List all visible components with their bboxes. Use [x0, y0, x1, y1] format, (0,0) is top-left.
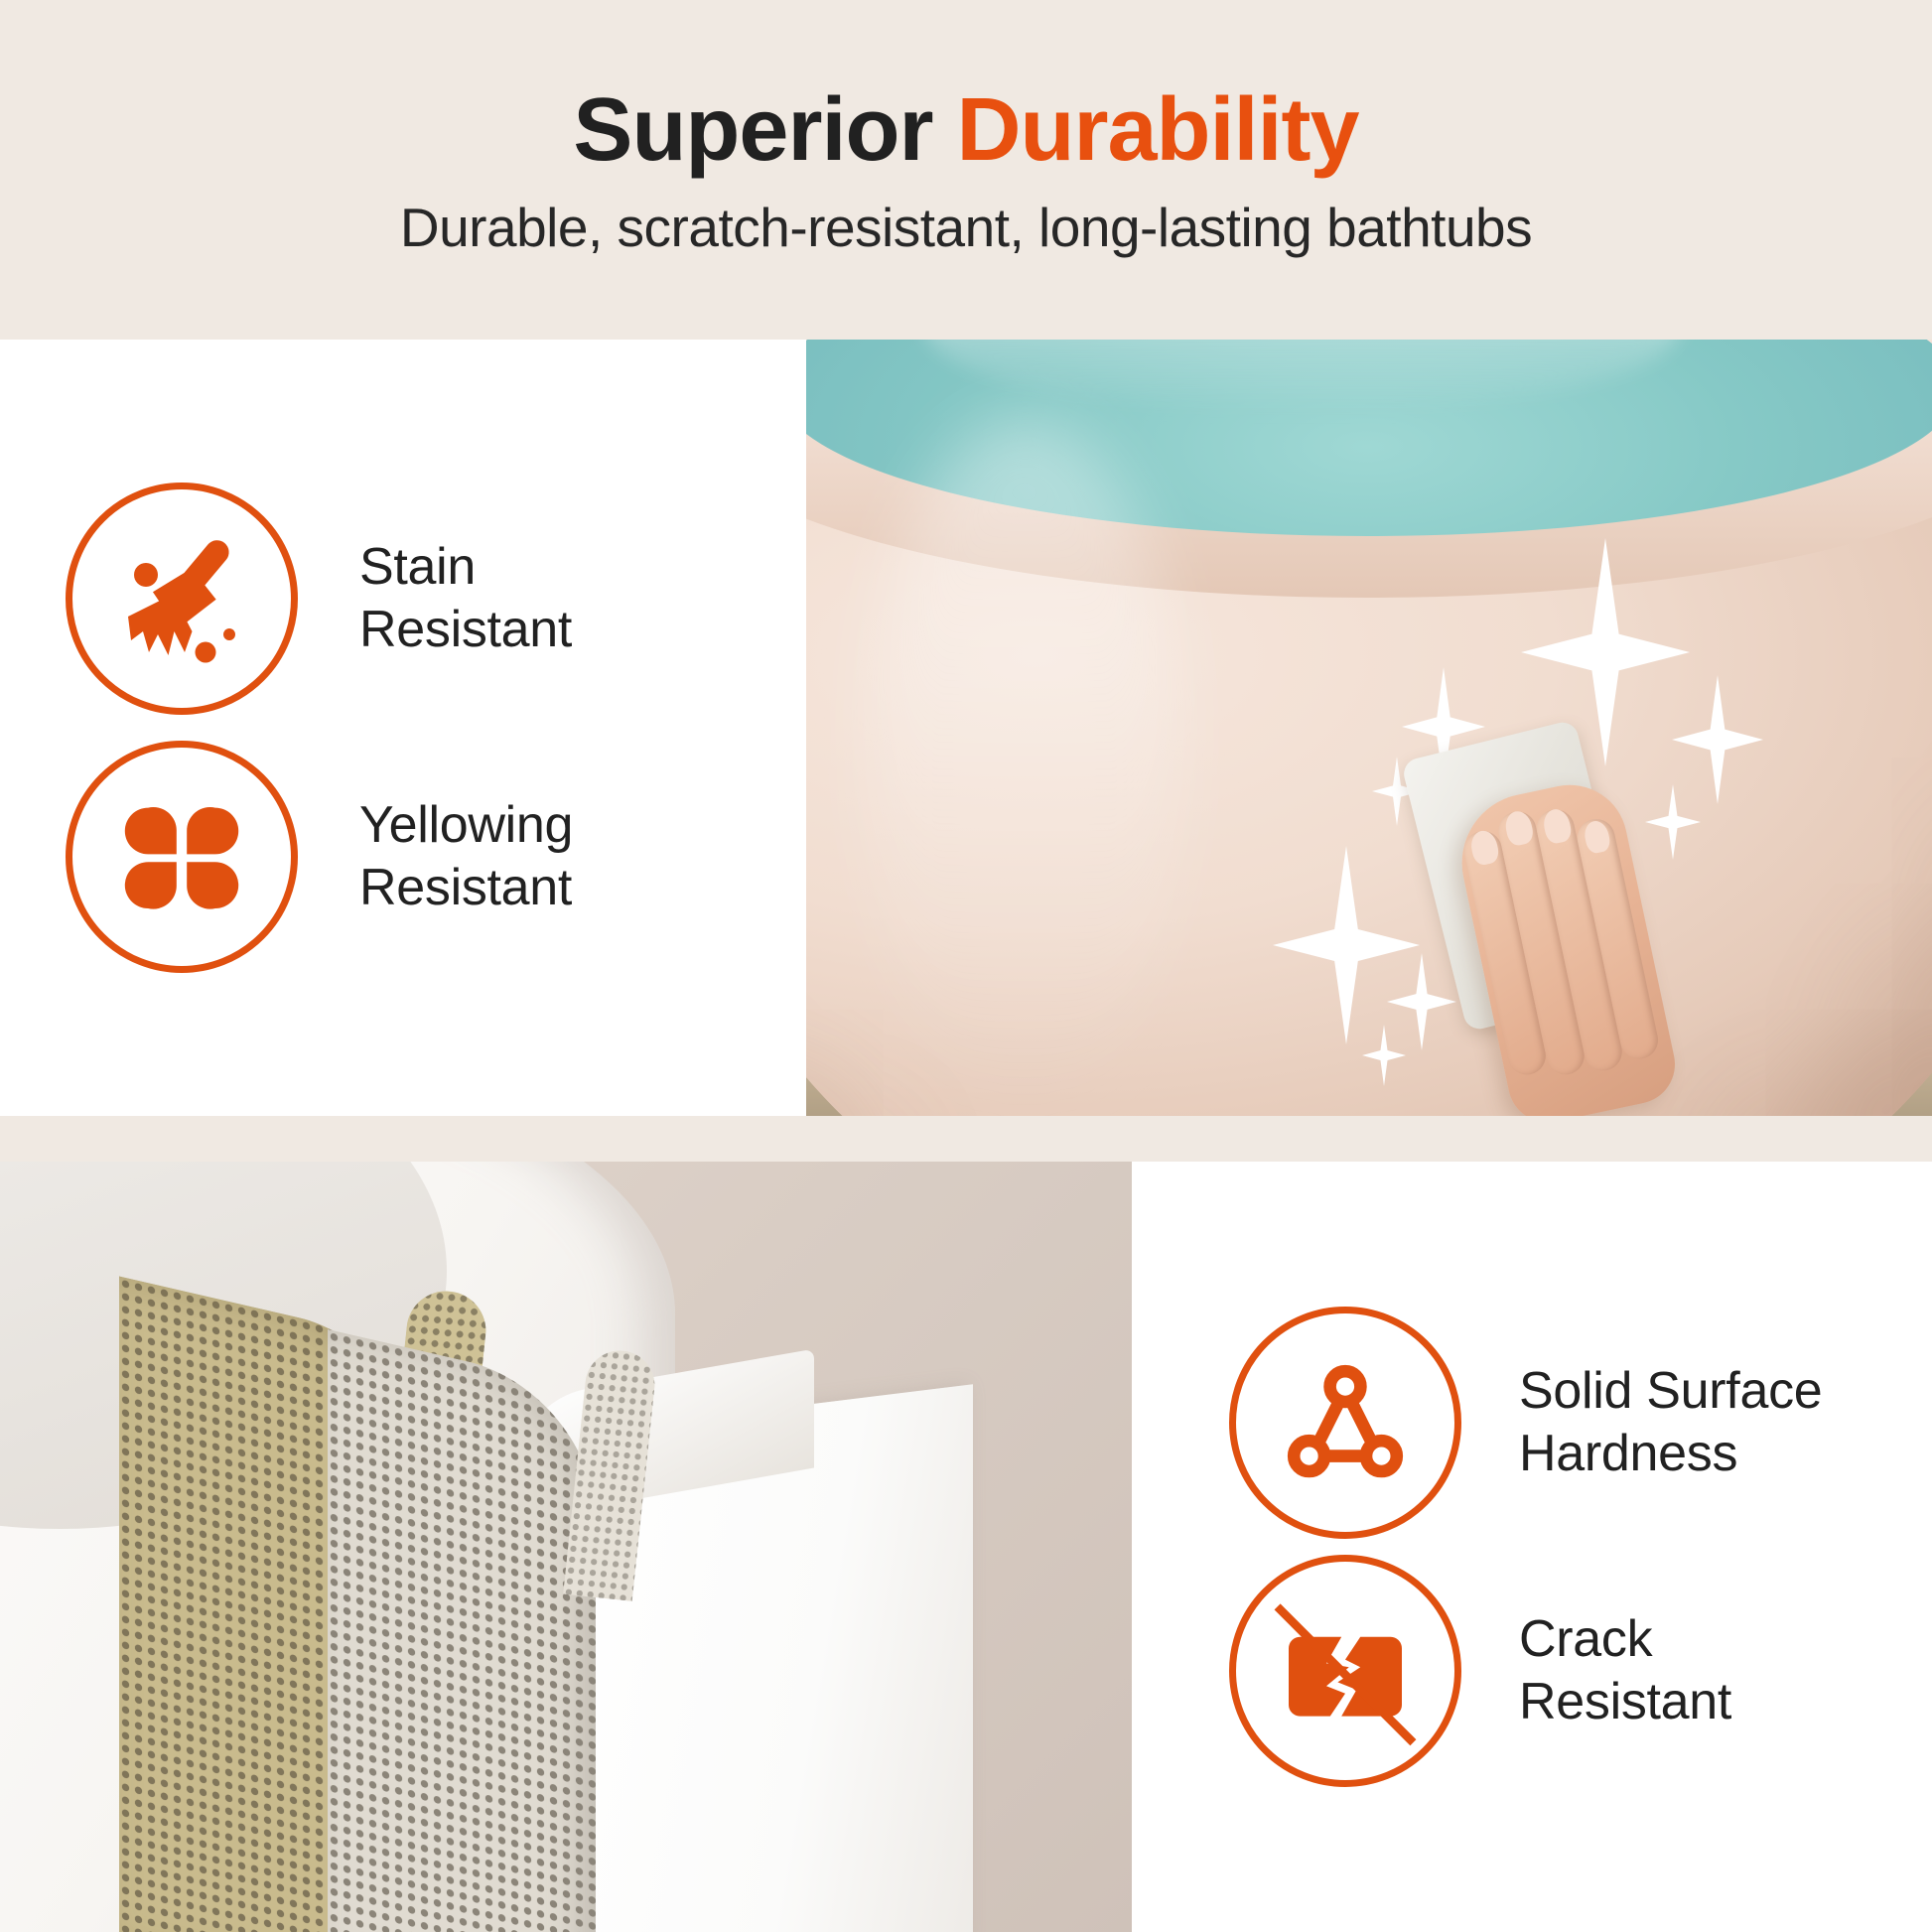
broom-icon — [66, 483, 298, 715]
bathtub-highlight — [866, 419, 1183, 1114]
bathtub-wipe-photo — [806, 340, 1932, 1116]
feature-label-line2: Resistant — [359, 857, 573, 919]
feature-label-line1: Crack — [1519, 1608, 1731, 1671]
page-title: Superior Durability — [573, 85, 1358, 175]
feature-solid-surface-hardness[interactable]: Solid Surface Hardness — [1132, 1299, 1932, 1547]
molecule-triangle-icon — [1229, 1307, 1461, 1539]
header-band: Superior Durability Durable, scratch-res… — [0, 0, 1932, 340]
features-top-left-panel: Stain Resistant — [0, 340, 806, 1116]
photo-composition — [806, 340, 1932, 1116]
page-title-accent: Durability — [957, 80, 1359, 180]
feature-yellowing-resistant[interactable]: Yellowing Resistant — [0, 728, 806, 986]
feature-label-line1: Yellowing — [359, 794, 573, 857]
material-layers-photo — [0, 1162, 1132, 1932]
page-title-primary: Superior — [573, 80, 956, 180]
feature-crack-resistant[interactable]: Crack Resistant — [1132, 1547, 1932, 1795]
feature-label-line2: Resistant — [1519, 1671, 1731, 1733]
infographic-page: Superior Durability Durable, scratch-res… — [0, 0, 1932, 1932]
feature-label-line2: Hardness — [1519, 1423, 1822, 1485]
photo-composition — [0, 1162, 1132, 1932]
feature-label: Solid Surface Hardness — [1519, 1360, 1822, 1486]
page-subtitle: Durable, scratch-resistant, long-lasting… — [400, 201, 1532, 255]
feature-label-line1: Stain — [359, 536, 572, 599]
clover-four-petal-icon — [66, 741, 298, 973]
feature-label-line2: Resistant — [359, 599, 572, 661]
features-bottom-right-panel: Solid Surface Hardness Crack — [1132, 1162, 1932, 1932]
feature-label-line1: Solid Surface — [1519, 1360, 1822, 1423]
no-crack-icon — [1229, 1555, 1461, 1787]
silver-mesh-layer — [328, 1329, 596, 1932]
feature-label: Stain Resistant — [359, 536, 572, 662]
row-bottom: Solid Surface Hardness Crack — [0, 1162, 1932, 1932]
feature-label: Yellowing Resistant — [359, 794, 573, 920]
row-top: Stain Resistant — [0, 340, 1932, 1116]
section-divider — [0, 1116, 1932, 1162]
feature-stain-resistant[interactable]: Stain Resistant — [0, 470, 806, 728]
feature-label: Crack Resistant — [1519, 1608, 1731, 1734]
